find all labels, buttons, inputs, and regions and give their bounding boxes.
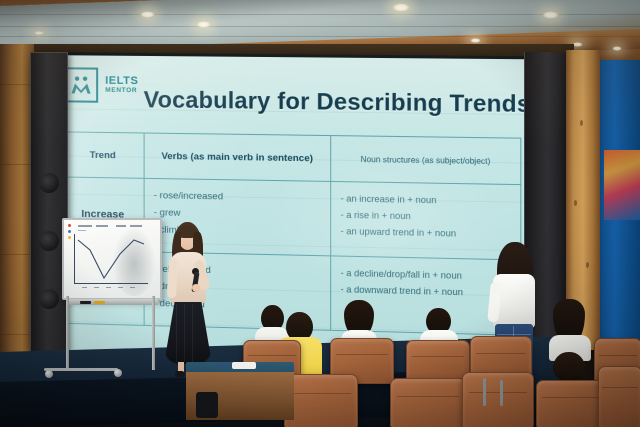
ceiling-light bbox=[392, 3, 410, 12]
ceiling-light bbox=[140, 11, 155, 18]
list-item bbox=[598, 366, 640, 427]
header-nouns: Noun structures (as subject/object) bbox=[331, 136, 520, 184]
list-item bbox=[549, 299, 591, 359]
noun-item: - a decline/drop/fall in + noun bbox=[341, 268, 511, 282]
ceiling-light bbox=[612, 46, 622, 51]
noun-item: - an upward trend in + noun bbox=[341, 226, 511, 240]
noun-item: - an increase in + noun bbox=[341, 193, 511, 206]
logo-text-line2: MENTOR bbox=[105, 88, 138, 95]
whiteboard-wheel bbox=[45, 370, 53, 378]
list-item bbox=[284, 374, 358, 427]
bag-under-table bbox=[196, 392, 218, 418]
whiteboard-line-graph bbox=[74, 234, 150, 286]
presenter-with-microphone bbox=[160, 222, 216, 380]
header-verbs: Verbs (as main verb in sentence) bbox=[145, 134, 332, 181]
logo-text-line1: IELTS bbox=[105, 76, 138, 87]
ielts-mentor-m-logo-icon bbox=[63, 67, 98, 102]
header-trend: Trend bbox=[62, 132, 145, 177]
noun-item: - a rise in + noun bbox=[341, 210, 511, 223]
brand-logo: IELTS MENTOR bbox=[63, 67, 138, 103]
whiteboard-wheel bbox=[114, 369, 122, 377]
whiteboard-base bbox=[44, 368, 118, 371]
list-item bbox=[536, 380, 606, 427]
whiteboard bbox=[62, 218, 162, 300]
seated-attendee-back-row bbox=[553, 352, 585, 382]
pen-on-table bbox=[216, 365, 230, 367]
left-wood-wall bbox=[0, 44, 34, 384]
presentation-photo: IELTS MENTOR Vocabulary for Describing T… bbox=[0, 0, 640, 427]
ceiling-light bbox=[542, 11, 559, 19]
paper-on-table bbox=[232, 362, 256, 369]
ceiling-light bbox=[34, 31, 44, 35]
chair-leg bbox=[500, 380, 503, 406]
list-item bbox=[462, 372, 534, 427]
verb-item: - grew bbox=[154, 207, 321, 221]
ceiling-light bbox=[470, 38, 481, 43]
chair-leg bbox=[483, 378, 486, 406]
presenter-skirt bbox=[164, 302, 212, 364]
ceiling-light bbox=[196, 21, 211, 28]
table-header-row: Trend Verbs (as main verb in sentence) N… bbox=[62, 132, 520, 185]
list-item bbox=[390, 378, 466, 427]
noun-item: - a downward trend in + noun bbox=[341, 284, 511, 298]
whiteboard-stand-right bbox=[152, 296, 155, 370]
verb-item: - rose/increased bbox=[154, 190, 321, 204]
whiteboard-stand-left bbox=[66, 296, 69, 370]
slide-title: Vocabulary for Describing Trends bbox=[144, 86, 531, 118]
colorful-banner bbox=[604, 150, 640, 220]
